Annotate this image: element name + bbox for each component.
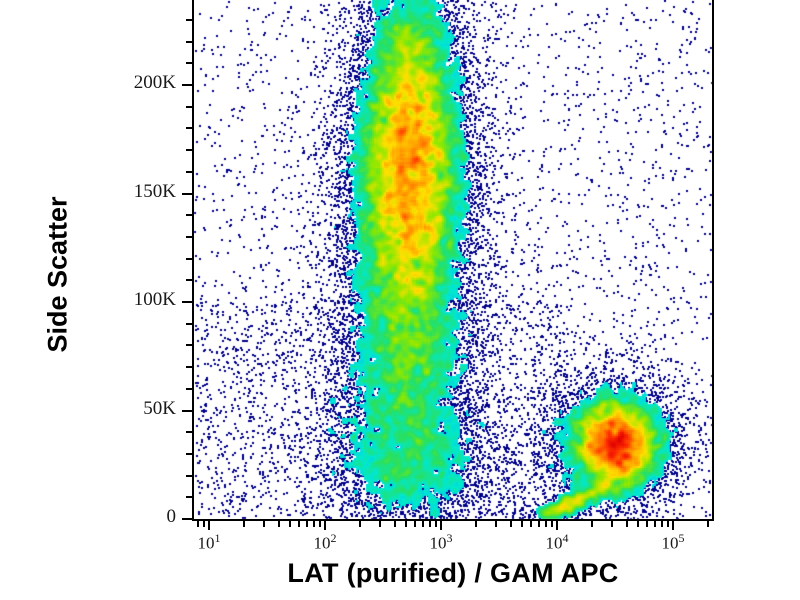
x-axis-title: LAT (purified) / GAM APC: [192, 558, 714, 589]
x-minor-tick: [197, 521, 199, 527]
x-tick-1e2: [324, 521, 326, 530]
y-tick-label: 0: [0, 506, 176, 528]
x-minor-tick: [306, 521, 308, 527]
x-minor-tick: [495, 521, 497, 527]
y-tick-0: [182, 518, 192, 520]
flow-cytometry-scatter-plot: 050K100K150K200K 101102103104105 LAT (pu…: [0, 0, 800, 600]
y-minor-tick: [186, 431, 192, 433]
x-minor-tick: [521, 521, 523, 527]
x-tick-label: 102: [314, 531, 337, 554]
x-tick-1e4: [556, 521, 558, 530]
x-minor-tick: [429, 521, 431, 527]
y-tick-label: 50K: [0, 398, 176, 420]
y-minor-tick: [186, 323, 192, 325]
x-minor-tick: [661, 521, 663, 527]
x-minor-tick: [538, 521, 540, 527]
y-tick-label: 200K: [0, 72, 176, 94]
x-minor-tick: [551, 521, 553, 527]
x-minor-tick: [654, 521, 656, 527]
y-minor-tick: [186, 388, 192, 390]
y-minor-tick: [186, 453, 192, 455]
x-minor-tick: [394, 521, 396, 527]
y-minor-tick: [186, 279, 192, 281]
x-tick-label: 103: [430, 531, 453, 554]
x-minor-tick: [379, 521, 381, 527]
x-minor-tick: [405, 521, 407, 527]
y-minor-tick: [186, 149, 192, 151]
x-minor-tick: [667, 521, 669, 527]
x-minor-tick: [707, 521, 709, 527]
plot-right-border: [712, 0, 714, 521]
y-minor-tick: [186, 19, 192, 21]
x-minor-tick: [319, 521, 321, 527]
y-tick-100K: [182, 301, 192, 303]
x-tick-label: 105: [662, 531, 685, 554]
y-minor-tick: [186, 496, 192, 498]
y-tick-150K: [182, 193, 192, 195]
x-tick-label: 101: [198, 531, 221, 554]
y-minor-tick: [186, 366, 192, 368]
y-axis-spine: [192, 0, 194, 521]
y-minor-tick: [186, 236, 192, 238]
x-tick-1e3: [440, 521, 442, 530]
x-minor-tick: [414, 521, 416, 527]
y-minor-tick: [186, 258, 192, 260]
x-minor-tick: [637, 521, 639, 527]
x-minor-tick: [591, 521, 593, 527]
x-tick-1e1: [208, 521, 210, 530]
x-minor-tick: [475, 521, 477, 527]
y-tick-200K: [182, 84, 192, 86]
x-minor-tick: [545, 521, 547, 527]
x-minor-tick: [298, 521, 300, 527]
x-minor-tick: [243, 521, 245, 527]
y-minor-tick: [186, 41, 192, 43]
y-minor-tick: [186, 106, 192, 108]
y-minor-tick: [186, 475, 192, 477]
y-tick-label: 150K: [0, 181, 176, 203]
y-minor-tick: [186, 344, 192, 346]
y-axis-title: Side Scatter: [43, 145, 74, 405]
x-minor-tick: [626, 521, 628, 527]
y-tick-label: 100K: [0, 289, 176, 311]
x-minor-tick: [435, 521, 437, 527]
x-minor-tick: [263, 521, 265, 527]
x-minor-tick: [313, 521, 315, 527]
y-minor-tick: [186, 214, 192, 216]
x-minor-tick: [510, 521, 512, 527]
x-minor-tick: [289, 521, 291, 527]
x-minor-tick: [422, 521, 424, 527]
y-minor-tick: [186, 171, 192, 173]
y-minor-tick: [186, 62, 192, 64]
y-tick-50K: [182, 410, 192, 412]
x-tick-1e5: [672, 521, 674, 530]
x-minor-tick: [359, 521, 361, 527]
y-minor-tick: [186, 127, 192, 129]
x-minor-tick: [646, 521, 648, 527]
x-minor-tick: [530, 521, 532, 527]
x-minor-tick: [203, 521, 205, 527]
x-minor-tick: [611, 521, 613, 527]
x-tick-label: 104: [546, 531, 569, 554]
x-axis-spine: [192, 519, 714, 521]
x-minor-tick: [278, 521, 280, 527]
